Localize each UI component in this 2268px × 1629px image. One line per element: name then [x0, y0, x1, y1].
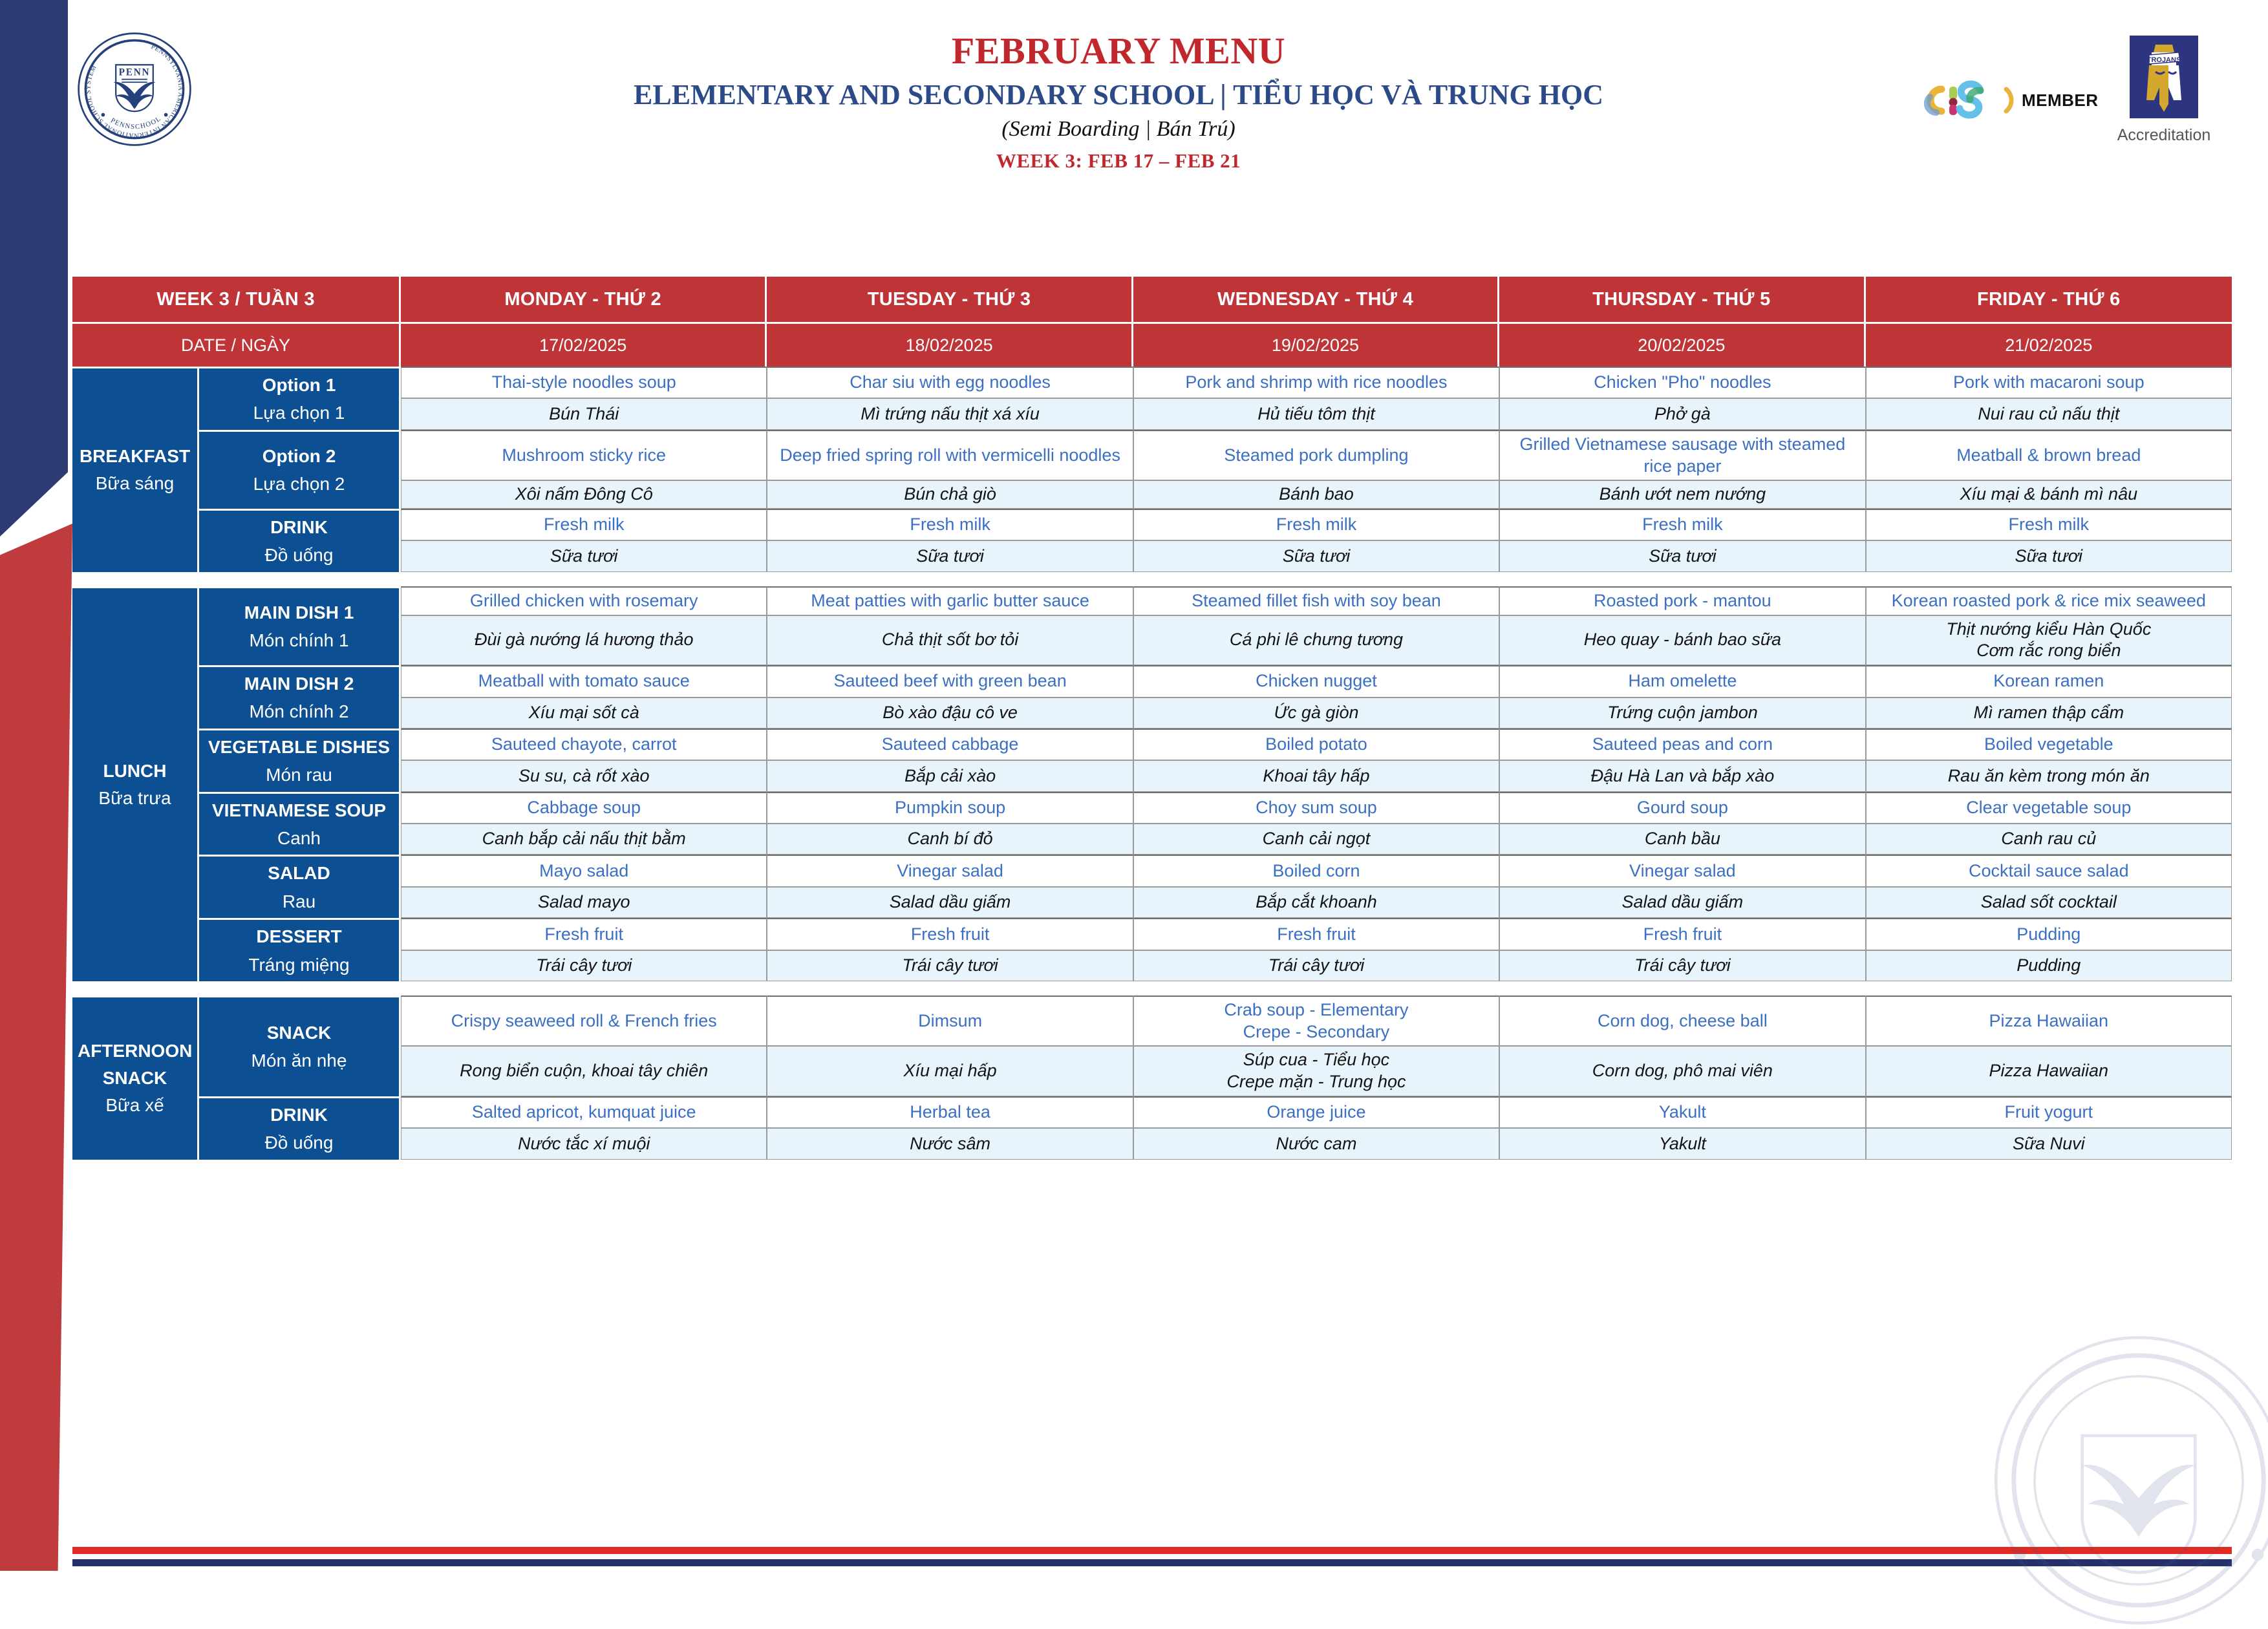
cell-en: Pudding — [1866, 918, 2232, 950]
cell-vi: Xíu mại & bánh mì nâu — [1866, 480, 2232, 509]
section-label-afternoon-snack: AFTERNOON SNACKBữa xế — [72, 995, 199, 1160]
row-label-0: SNACKMón ăn nhẹ — [199, 995, 401, 1096]
cell-vi: Bắp cải xào — [767, 760, 1133, 791]
semi-boarding-label: (Semi Boarding | Bán Trú) — [504, 117, 1733, 142]
cell-en: Orange juice — [1133, 1096, 1499, 1128]
cell-en: Roasted pork - mantou — [1499, 586, 1865, 615]
cell-en: Dimsum — [767, 995, 1133, 1047]
row-label-2: VEGETABLE DISHESMón rau — [199, 729, 401, 792]
week-range-label: WEEK 3: FEB 17 – FEB 21 — [504, 149, 1733, 173]
header-day-2: WEDNESDAY - THỨ 4 — [1133, 277, 1499, 322]
cell-vi: Đùi gà nướng lá hương thảo — [401, 615, 767, 666]
cis-logo-icon — [1910, 78, 2014, 123]
cell-en: Steamed pork dumpling — [1133, 430, 1499, 481]
cell-en: Char siu with egg noodles — [767, 367, 1133, 398]
cell-vi: Canh bầu — [1499, 824, 1865, 855]
table-date-row: DATE / NGÀY17/02/202518/02/202519/02/202… — [72, 322, 2232, 367]
row-label-0: Option 1Lựa chọn 1 — [199, 367, 401, 430]
cell-vi: Nước cam — [1133, 1128, 1499, 1159]
section-label-lunch: LUNCHBữa trưa — [72, 586, 199, 981]
cell-en: Fresh milk — [1133, 509, 1499, 540]
cell-vi: Hủ tiếu tôm thịt — [1133, 398, 1499, 429]
cell-en: Mayo salad — [401, 855, 767, 886]
header-date-4: 21/02/2025 — [1866, 322, 2232, 367]
cell-vi: Yakult — [1499, 1128, 1865, 1159]
cell-vi: Xôi nấm Đông Cô — [401, 480, 767, 509]
cell-en: Crispy seaweed roll & French fries — [401, 995, 767, 1047]
cell-en: Corn dog, cheese ball — [1499, 995, 1865, 1047]
section-spacer — [72, 572, 2232, 586]
cell-en: Grilled Vietnamese sausage with steamed … — [1499, 430, 1865, 481]
table-row: SALADRauMayo saladVinegar saladBoiled co… — [72, 855, 2232, 886]
cell-en: Sauteed chayote, carrot — [401, 729, 767, 760]
cell-en: Crab soup - ElementaryCrepe - Secondary — [1133, 995, 1499, 1047]
table-row: AFTERNOON SNACKBữa xếSNACKMón ăn nhẹCris… — [72, 995, 2232, 1047]
header-titles: FEBRUARY MENU ELEMENTARY AND SECONDARY S… — [504, 30, 1733, 173]
header-date-2: 19/02/2025 — [1133, 322, 1499, 367]
cell-vi: Xíu mại hấp — [767, 1046, 1133, 1096]
cell-en: Choy sum soup — [1133, 792, 1499, 824]
cell-vi: Pudding — [1866, 950, 2232, 981]
cell-vi: Bắp cắt khoanh — [1133, 887, 1499, 918]
cis-member-text: MEMBER — [2022, 90, 2099, 111]
table-row: LUNCHBữa trưaMAIN DISH 1Món chính 1Grill… — [72, 586, 2232, 615]
cell-en: Meatball & brown bread — [1866, 430, 2232, 481]
cell-vi: Heo quay - bánh bao sữa — [1499, 615, 1865, 666]
section-label-breakfast: BREAKFASTBữa sáng — [72, 367, 199, 572]
cell-en: Pumpkin soup — [767, 792, 1133, 824]
cell-vi: Trứng cuộn jambon — [1499, 697, 1865, 729]
cell-en: Ham omelette — [1499, 665, 1865, 697]
cell-vi: Chả thịt sốt bơ tỏi — [767, 615, 1133, 666]
cell-vi: Sữa tươi — [401, 540, 767, 571]
cell-en: Fresh fruit — [767, 918, 1133, 950]
row-label-3: VIETNAMESE SOUPCanh — [199, 792, 401, 855]
cell-en: Boiled corn — [1133, 855, 1499, 886]
cell-vi: Bún Thái — [401, 398, 767, 429]
page-edge-red-bar — [0, 524, 72, 1571]
cell-en: Deep fried spring roll with vermicelli n… — [767, 430, 1133, 481]
cell-vi: Khoai tây hấp — [1133, 760, 1499, 791]
cell-vi: Nui rau củ nấu thịt — [1866, 398, 2232, 429]
cell-en: Pork and shrimp with rice noodles — [1133, 367, 1499, 398]
cell-vi: Bò xào đậu cô ve — [767, 697, 1133, 729]
header-day-4: FRIDAY - THỨ 6 — [1866, 277, 2232, 322]
svg-text:PENN: PENN — [119, 67, 151, 78]
cell-vi: Bún chả giò — [767, 480, 1133, 509]
header-date-3: 20/02/2025 — [1499, 322, 1865, 367]
cell-vi: Canh bí đỏ — [767, 824, 1133, 855]
header-week-label: WEEK 3 / TUẦN 3 — [72, 277, 401, 322]
cell-vi: Trái cây tươi — [767, 950, 1133, 981]
cell-en: Grilled chicken with rosemary — [401, 586, 767, 615]
cell-en: Korean roasted pork & rice mix seaweed — [1866, 586, 2232, 615]
cell-en: Meat patties with garlic butter sauce — [767, 586, 1133, 615]
cell-vi: Salad mayo — [401, 887, 767, 918]
cell-en: Fresh milk — [767, 509, 1133, 540]
cell-en: Fresh fruit — [1133, 918, 1499, 950]
cell-en: Gourd soup — [1499, 792, 1865, 824]
cell-en: Mushroom sticky rice — [401, 430, 767, 481]
cell-vi: Mì trứng nấu thịt xá xíu — [767, 398, 1133, 429]
table-header-row: WEEK 3 / TUẦN 3MONDAY - THỨ 2TUESDAY - T… — [72, 277, 2232, 322]
cell-en: Cocktail sauce salad — [1866, 855, 2232, 886]
cell-vi: Canh bắp cải nấu thịt bằm — [401, 824, 767, 855]
cell-en: Clear vegetable soup — [1866, 792, 2232, 824]
cell-en: Chicken "Pho" noodles — [1499, 367, 1865, 398]
cell-en: Fresh milk — [1499, 509, 1865, 540]
cell-en: Vinegar salad — [1499, 855, 1865, 886]
cell-en: Sauteed beef with green bean — [767, 665, 1133, 697]
cell-vi: Cá phi lê chưng tương — [1133, 615, 1499, 666]
table-row: MAIN DISH 2Món chính 2Meatball with toma… — [72, 665, 2232, 697]
cell-vi: Sữa tươi — [767, 540, 1133, 571]
cell-en: Fresh fruit — [1499, 918, 1865, 950]
header-day-1: TUESDAY - THỨ 3 — [767, 277, 1133, 322]
row-label-1: DRINKĐồ uống — [199, 1096, 401, 1160]
cell-vi: Salad dầu giấm — [1499, 887, 1865, 918]
cell-vi: Corn dog, phô mai viên — [1499, 1046, 1865, 1096]
trojan-helmet-icon: TROJANS — [2130, 36, 2198, 118]
cell-vi: Ức gà giòn — [1133, 697, 1499, 729]
cell-vi: Rau ăn kèm trong món ăn — [1866, 760, 2232, 791]
cell-vi: Pizza Hawaiian — [1866, 1046, 2232, 1096]
school-seal-watermark — [1990, 1332, 2268, 1629]
cell-en: Salted apricot, kumquat juice — [401, 1096, 767, 1128]
cell-en: Fresh fruit — [401, 918, 767, 950]
cell-en: Chicken nugget — [1133, 665, 1499, 697]
header-date-1: 18/02/2025 — [767, 322, 1133, 367]
cell-vi: Bánh ướt nem nướng — [1499, 480, 1865, 509]
trojans-badge-icon: TROJANS — [2130, 36, 2198, 118]
table-row: Option 2Lựa chọn 2Mushroom sticky riceDe… — [72, 430, 2232, 481]
header-day-3: THURSDAY - THỨ 5 — [1499, 277, 1865, 322]
cell-en: Herbal tea — [767, 1096, 1133, 1128]
row-label-1: Option 2Lựa chọn 2 — [199, 430, 401, 509]
accreditation-block: TROJANS Accreditation — [2109, 36, 2219, 145]
svg-text:TROJANS: TROJANS — [2147, 56, 2181, 64]
cell-vi: Sữa tươi — [1866, 540, 2232, 571]
cell-en: Steamed fillet fish with soy bean — [1133, 586, 1499, 615]
school-seal-logo: PENNSYLVANIA AMERICAN INTERNATIONAL SCHO… — [76, 31, 193, 147]
cell-vi: Xíu mại sốt cà — [401, 697, 767, 729]
cell-vi: Rong biển cuộn, khoai tây chiên — [401, 1046, 767, 1096]
table-row: DESSERTTráng miệngFresh fruitFresh fruit… — [72, 918, 2232, 950]
cell-en: Pork with macaroni soup — [1866, 367, 2232, 398]
cell-en: Boiled vegetable — [1866, 729, 2232, 760]
cell-vi: Salad dầu giấm — [767, 887, 1133, 918]
table-row: VIETNAMESE SOUPCanhCabbage soupPumpkin s… — [72, 792, 2232, 824]
row-label-0: MAIN DISH 1Món chính 1 — [199, 586, 401, 665]
table-row: DRINKĐồ uốngFresh milkFresh milkFresh mi… — [72, 509, 2232, 540]
cell-en: Pizza Hawaiian — [1866, 995, 2232, 1047]
cell-vi: Súp cua - Tiểu họcCrepe mặn - Trung học — [1133, 1046, 1499, 1096]
cell-en: Meatball with tomato sauce — [401, 665, 767, 697]
cell-en: Cabbage soup — [401, 792, 767, 824]
cell-en: Boiled potato — [1133, 729, 1499, 760]
menu-table: WEEK 3 / TUẦN 3MONDAY - THỨ 2TUESDAY - T… — [72, 277, 2232, 1160]
cell-en: Fruit yogurt — [1866, 1096, 2232, 1128]
cell-vi: Nước sâm — [767, 1128, 1133, 1159]
cell-en: Sauteed cabbage — [767, 729, 1133, 760]
cell-en: Fresh milk — [1866, 509, 2232, 540]
cell-vi: Mì ramen thập cẩm — [1866, 697, 2232, 729]
cell-vi: Nước tắc xí muội — [401, 1128, 767, 1159]
header-day-0: MONDAY - THỨ 2 — [401, 277, 767, 322]
row-label-2: DRINKĐồ uống — [199, 509, 401, 572]
cell-en: Yakult — [1499, 1096, 1865, 1128]
cell-vi: Trái cây tươi — [401, 950, 767, 981]
cell-vi: Sữa Nuvi — [1866, 1128, 2232, 1159]
cell-vi: Sữa tươi — [1133, 540, 1499, 571]
header-date-0: 17/02/2025 — [401, 322, 767, 367]
cell-en: Sauteed peas and corn — [1499, 729, 1865, 760]
header-date-label: DATE / NGÀY — [72, 322, 401, 367]
table-row: BREAKFASTBữa sángOption 1Lựa chọn 1Thai-… — [72, 367, 2232, 398]
page-edge-navy-triangle — [0, 0, 68, 537]
cell-vi: Bánh bao — [1133, 480, 1499, 509]
cell-en: Vinegar salad — [767, 855, 1133, 886]
cell-vi: Canh rau củ — [1866, 824, 2232, 855]
table-row: DRINKĐồ uốngSalted apricot, kumquat juic… — [72, 1096, 2232, 1128]
cell-vi: Trái cây tươi — [1133, 950, 1499, 981]
page-subtitle: ELEMENTARY AND SECONDARY SCHOOL | TIỂU H… — [504, 78, 1733, 112]
cell-vi: Su su, cà rốt xào — [401, 760, 767, 791]
cell-en: Thai-style noodles soup — [401, 367, 767, 398]
footer-stripe-red — [72, 1547, 2232, 1554]
cell-vi: Trái cây tươi — [1499, 950, 1865, 981]
section-spacer — [72, 981, 2232, 995]
cell-vi: Sữa tươi — [1499, 540, 1865, 571]
cell-en: Fresh milk — [401, 509, 767, 540]
cis-member-logo: MEMBER — [1910, 78, 2099, 123]
cell-en: Korean ramen — [1866, 665, 2232, 697]
row-label-1: MAIN DISH 2Món chính 2 — [199, 665, 401, 729]
cell-vi: Phở gà — [1499, 398, 1865, 429]
cell-vi: Thịt nướng kiểu Hàn QuốcCơm rắc rong biể… — [1866, 615, 2232, 666]
footer-stripe-navy — [72, 1559, 2232, 1566]
cell-vi: Canh cải ngọt — [1133, 824, 1499, 855]
cell-vi: Đậu Hà Lan và bắp xào — [1499, 760, 1865, 791]
table-row: VEGETABLE DISHESMón rauSauteed chayote, … — [72, 729, 2232, 760]
accreditation-label: Accreditation — [2109, 126, 2219, 145]
row-label-4: SALADRau — [199, 855, 401, 918]
cell-vi: Salad sốt cocktail — [1866, 887, 2232, 918]
page-title: FEBRUARY MENU — [504, 30, 1733, 73]
row-label-5: DESSERTTráng miệng — [199, 918, 401, 981]
